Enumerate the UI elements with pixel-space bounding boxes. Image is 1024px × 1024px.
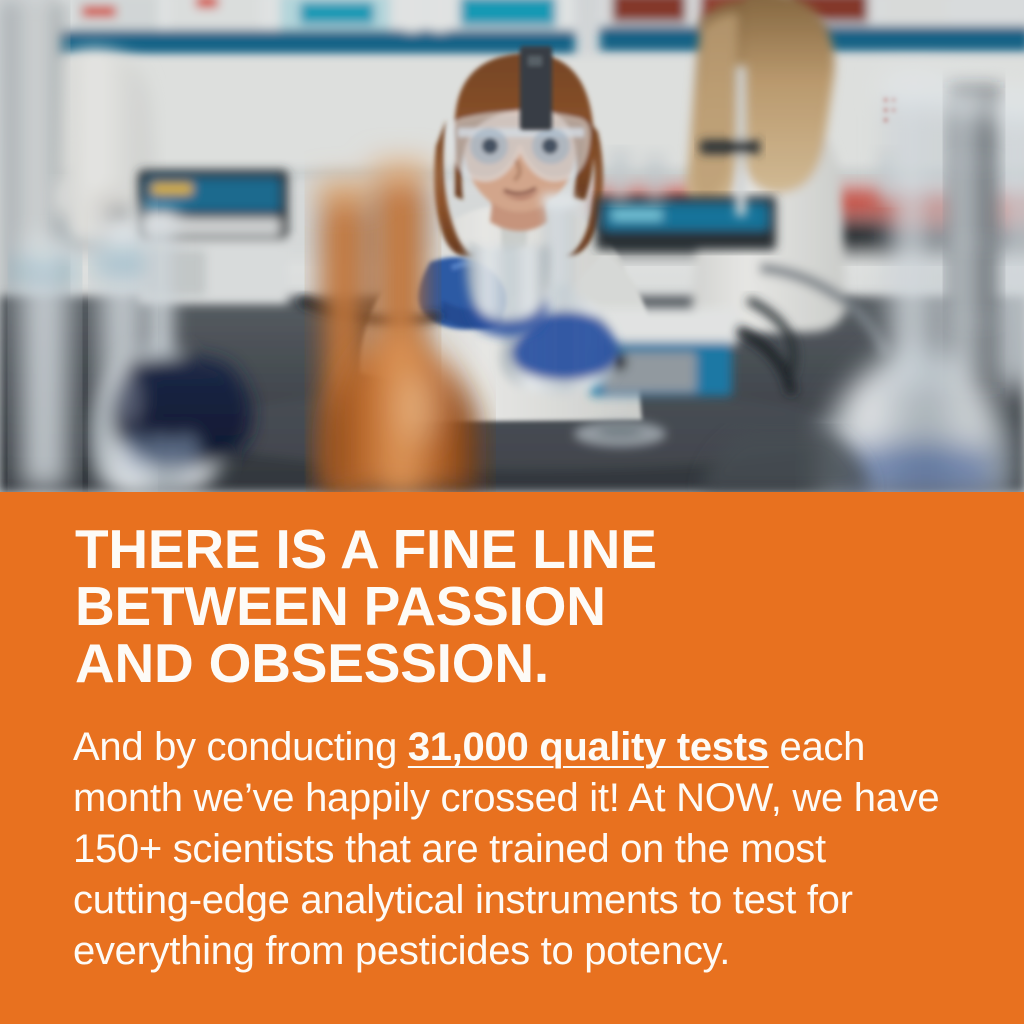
promo-card: 500 <box>0 0 1024 1024</box>
laboratory-photo: 500 <box>0 0 1024 492</box>
body-copy: And by conducting 31,000 quality tests e… <box>73 722 953 977</box>
body-copy-lead: And by conducting <box>73 725 408 769</box>
quality-tests-emphasis: 31,000 quality tests <box>408 725 769 769</box>
orange-message-panel: THERE IS A FINE LINE BETWEEN PASSION AND… <box>0 492 1024 1024</box>
lab-scene-illustration: 500 <box>0 0 1024 492</box>
page-title: THERE IS A FINE LINE BETWEEN PASSION AND… <box>75 521 657 692</box>
